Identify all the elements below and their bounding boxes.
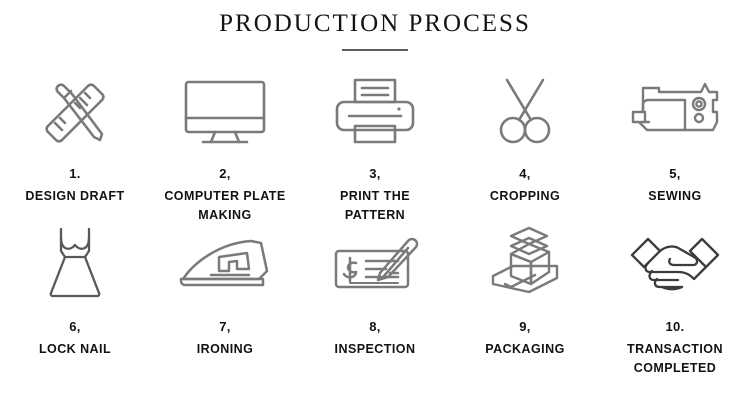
pencil-ruler-icon: [0, 72, 150, 150]
step-item-4[interactable]: 4, CROPPING: [450, 72, 600, 225]
step-item-2[interactable]: 2, COMPUTER PLATE MAKING: [150, 72, 300, 225]
step-row-1: 1. DESIGN DRAFT 2,: [0, 72, 750, 225]
steps-grid: 1. DESIGN DRAFT 2,: [0, 72, 750, 378]
step-number: 8,: [369, 320, 380, 334]
step-number: 10.: [666, 320, 685, 334]
step-label-line: DESIGN DRAFT: [25, 187, 124, 206]
step-label-line: IRONING: [197, 340, 254, 359]
step-number: 7,: [219, 320, 230, 334]
step-row-2: 6, LOCK NAIL 7, IRONING: [0, 225, 750, 378]
step-label-line: SEWING: [648, 187, 701, 206]
step-label: IRONING: [197, 340, 254, 359]
scissors-icon: [450, 72, 600, 150]
step-label-line: COMPUTER PLATE: [164, 187, 285, 206]
step-label-line: CROPPING: [490, 187, 560, 206]
step-item-7[interactable]: 7, IRONING: [150, 225, 300, 378]
step-label-line: PACKAGING: [485, 340, 565, 359]
step-label-line: LOCK NAIL: [39, 340, 111, 359]
handshake-icon: [600, 225, 750, 303]
step-item-10[interactable]: 10. TRANSACTION COMPLETED: [600, 225, 750, 378]
step-number: 6,: [69, 320, 80, 334]
step-label: CROPPING: [490, 187, 560, 206]
printer-icon: [300, 72, 450, 150]
sewing-machine-icon: [600, 72, 750, 150]
clothes-iron-icon: [150, 225, 300, 303]
step-item-3[interactable]: 3, PRINT THE PATTERN: [300, 72, 450, 225]
step-number: 3,: [369, 167, 380, 181]
step-label-line: MAKING: [164, 206, 285, 225]
step-label-line: TRANSACTION: [627, 340, 723, 359]
step-label-line: PATTERN: [340, 206, 410, 225]
step-number: 4,: [519, 167, 530, 181]
step-item-5[interactable]: 5, SEWING: [600, 72, 750, 225]
step-item-6[interactable]: 6, LOCK NAIL: [0, 225, 150, 378]
step-label: COMPUTER PLATE MAKING: [164, 187, 285, 225]
step-number: 1.: [69, 167, 80, 181]
step-item-1[interactable]: 1. DESIGN DRAFT: [0, 72, 150, 225]
step-label-line: COMPLETED: [627, 359, 723, 378]
step-number: 2,: [219, 167, 230, 181]
production-process-infographic: PRODUCTION PROCESS: [0, 0, 750, 401]
step-label: PACKAGING: [485, 340, 565, 359]
title-divider-rule: [342, 49, 408, 51]
cheque-pen-icon: [300, 225, 450, 303]
step-label: LOCK NAIL: [39, 340, 111, 359]
step-label: PRINT THE PATTERN: [340, 187, 410, 225]
step-number: 5,: [669, 167, 680, 181]
step-label: SEWING: [648, 187, 701, 206]
step-label: TRANSACTION COMPLETED: [627, 340, 723, 378]
desktop-monitor-icon: [150, 72, 300, 150]
header: PRODUCTION PROCESS: [0, 0, 750, 51]
step-item-8[interactable]: 8, INSPECTION: [300, 225, 450, 378]
step-number: 9,: [519, 320, 530, 334]
dress-icon: [0, 225, 150, 303]
step-item-9[interactable]: 9, PACKAGING: [450, 225, 600, 378]
page-title: PRODUCTION PROCESS: [0, 9, 750, 39]
step-label: INSPECTION: [335, 340, 416, 359]
step-label-line: PRINT THE: [340, 187, 410, 206]
package-box-icon: [450, 225, 600, 303]
step-label: DESIGN DRAFT: [25, 187, 124, 206]
step-label-line: INSPECTION: [335, 340, 416, 359]
